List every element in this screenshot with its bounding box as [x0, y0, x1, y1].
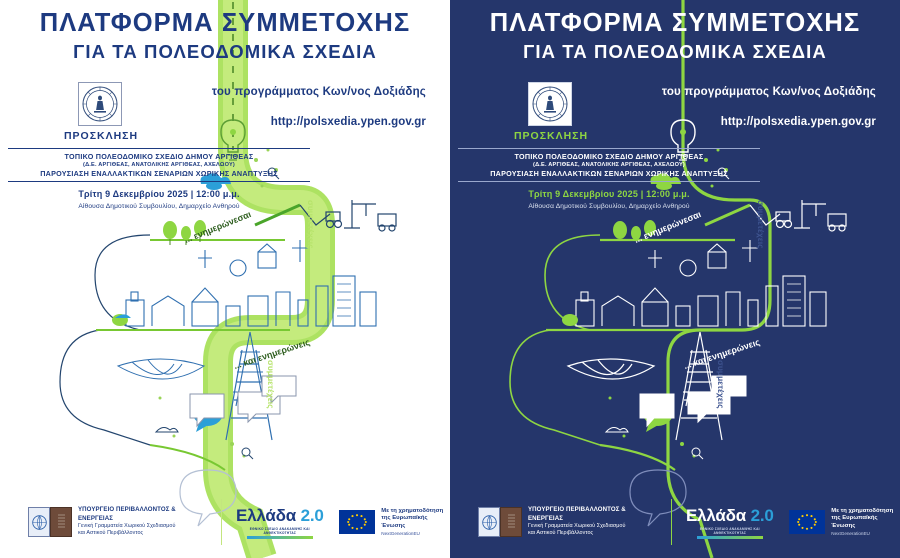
eu-nextgen-label: NextGenerationEU [381, 531, 450, 537]
poster-dark-variant: ΠΛΑΤΦΟΡΜΑ ΣΥΜΜΕΤΟΧΗΣ ΓΙΑ ΤΑ ΠΟΛΕΟΔΟΜΙΚΑ … [450, 0, 900, 558]
greece20-subtitle-dark: ΕΘΝΙΚΟ ΣΧΕΔΙΟ ΑΝΑΚΑΜΨΗΣ ΚΑΙ ΑΝΘΕΚΤΙΚΟΤΗΤ… [684, 527, 775, 535]
ministry-secretariat-line2: και Αστικού Περιβάλλοντος [78, 530, 207, 537]
greece20-number: 2.0 [301, 506, 324, 525]
greece20-word-dark: Ελλάδα [686, 506, 746, 525]
footer-divider-dark [671, 499, 672, 545]
poster-pair: ΠΛΑΤΦΟΡΜΑ ΣΥΜΜΕΤΟΧΗΣ ΓΙΑ ΤΑ ΠΟΛΕΟΔΟΜΙΚΑ … [0, 0, 900, 558]
greece20-subtitle: ΕΘΝΙΚΟ ΣΧΕΔΙΟ ΑΝΑΚΑΜΨΗΣ ΚΑΙ ΑΝΘΕΚΤΙΚΟΤΗΤ… [234, 527, 325, 535]
path-label-decor-d: συμμετέχεις [266, 360, 276, 409]
event-info-block-light: ΤΟΠΙΚΟ ΠΟΛΕΟΔΟΜΙΚΟ ΣΧΕΔΙΟ ΔΗΜΟΥ ΑΡΓΙΘΕΑΣ… [8, 148, 310, 210]
poster-title-line1: ΠΛΑΤΦΟΡΜΑ ΣΥΜΜΕΤΟΧΗΣ [0, 10, 450, 37]
greece20-accent-bar-dark [697, 536, 763, 539]
ministry-logo-block-dark: ΥΠΟΥΡΓΕΙΟ ΠΕΡΙΒΑΛΛΟΝΤΟΣ & ΕΝΕΡΓΕΙΑΣ Γενι… [478, 506, 657, 537]
greece20-number-dark: 2.0 [751, 506, 774, 525]
info-line-2: (Δ.Ε. ΑΡΓΙΘΕΑΣ, ΑΝΑΤΟΛΙΚΗΣ ΑΡΓΙΘΕΑΣ, ΑΧΕ… [8, 161, 310, 169]
platform-url-link[interactable]: http://polsxedia.ypen.gov.gr [271, 116, 426, 128]
eu-funding-block: Με τη χρηματοδότηση της Ευρωπαϊκής Ένωση… [339, 508, 450, 537]
greece20-word: Ελλάδα [236, 506, 296, 525]
invitation-label: ΠΡΟΣΚΛΗΣΗ [46, 130, 156, 142]
event-datetime: Τρίτη 9 Δεκεμβρίου 2025 | 12:00 μ.μ. [8, 189, 310, 199]
path-label-decor-d-dark: συμμετέχεις [716, 360, 726, 409]
program-subtitle-dark: του προγράμματος Κων/νος Δοξιάδης [662, 86, 876, 98]
ministry-emblem-icon [28, 507, 72, 537]
program-subtitle: του προγράμματος Κων/νος Δοξιάδης [212, 86, 426, 98]
ministry-name-dark: ΥΠΟΥΡΓΕΙΟ ΠΕΡΙΒΑΛΛΟΝΤΟΣ & ΕΝΕΡΓΕΙΑΣ [528, 506, 657, 522]
eu-funding-line2-dark: της Ευρωπαϊκής Ένωσης [831, 515, 900, 530]
title-block-light: ΠΛΑΤΦΟΡΜΑ ΣΥΜΜΕΤΟΧΗΣ ΓΙΑ ΤΑ ΠΟΛΕΟΔΟΜΙΚΑ … [0, 10, 450, 63]
greece20-accent-bar [247, 536, 313, 539]
municipal-seal-icon-dark [528, 82, 572, 126]
illustration-light [0, 0, 450, 558]
event-venue-dark: Αίθουσα Δημοτικού Συμβουλίου, Δημαρχείο … [458, 203, 760, 210]
poster-title-line1-dark: ΠΛΑΤΦΟΡΜΑ ΣΥΜΜΕΤΟΧΗΣ [450, 10, 900, 37]
divider-bottom [8, 181, 310, 182]
municipal-seal-icon [78, 82, 122, 126]
greece20-logo-dark: Ελλάδα 2.0 ΕΘΝΙΚΟ ΣΧΕΔΙΟ ΑΝΑΚΑΜΨΗΣ ΚΑΙ Α… [684, 506, 775, 539]
platform-url-link-dark[interactable]: http://polsxedia.ypen.gov.gr [721, 116, 876, 128]
info-line-2-dark: (Δ.Ε. ΑΡΓΙΘΕΑΣ, ΑΝΑΤΟΛΙΚΗΣ ΑΡΓΙΘΕΑΣ, ΑΧΕ… [458, 161, 760, 169]
ministry-name: ΥΠΟΥΡΓΕΙΟ ΠΕΡΙΒΑΛΛΟΝΤΟΣ & ΕΝΕΡΓΕΙΑΣ [78, 506, 207, 522]
eu-funding-line1: Με τη χρηματοδότηση [381, 508, 450, 516]
greece20-logo: Ελλάδα 2.0 ΕΘΝΙΚΟ ΣΧΕΔΙΟ ΑΝΑΚΑΜΨΗΣ ΚΑΙ Α… [234, 506, 325, 539]
poster-title-line2: ΓΙΑ ΤΑ ΠΟΛΕΟΔΟΜΙΚΑ ΣΧΕΔΙΑ [0, 41, 450, 63]
title-block-dark: ΠΛΑΤΦΟΡΜΑ ΣΥΜΜΕΤΟΧΗΣ ΓΙΑ ΤΑ ΠΟΛΕΟΔΟΜΙΚΑ … [450, 10, 900, 63]
footer-divider [221, 499, 222, 545]
footer-dark: ΥΠΟΥΡΓΕΙΟ ΠΕΡΙΒΑΛΛΟΝΤΟΣ & ΕΝΕΡΓΕΙΑΣ Γενι… [450, 496, 900, 548]
ministry-emblem-icon-dark [478, 507, 522, 537]
event-datetime-dark: Τρίτη 9 Δεκεμβρίου 2025 | 12:00 μ.μ. [458, 189, 760, 199]
invitation-label-dark: ΠΡΟΣΚΛΗΣΗ [496, 130, 606, 142]
info-line-3: ΠΑΡΟΥΣΙΑΣΗ ΕΝΑΛΛΑΚΤΙΚΩΝ ΣΕΝΑΡΙΩΝ ΧΩΡΙΚΗΣ… [8, 169, 310, 181]
ministry-secretariat-line2-dark: και Αστικού Περιβάλλοντος [528, 530, 657, 537]
info-line-3-dark: ΠΑΡΟΥΣΙΑΣΗ ΕΝΑΛΛΑΚΤΙΚΩΝ ΣΕΝΑΡΙΩΝ ΧΩΡΙΚΗΣ… [458, 169, 760, 181]
poster-light-variant: ΠΛΑΤΦΟΡΜΑ ΣΥΜΜΕΤΟΧΗΣ ΓΙΑ ΤΑ ΠΟΛΕΟΔΟΜΙΚΑ … [0, 0, 450, 558]
eu-funding-line1-dark: Με τη χρηματοδότηση [831, 508, 900, 516]
divider-bottom-dark [458, 181, 760, 182]
poster-title-line2-dark: ΓΙΑ ΤΑ ΠΟΛΕΟΔΟΜΙΚΑ ΣΧΕΔΙΑ [450, 41, 900, 63]
eu-nextgen-label-dark: NextGenerationEU [831, 531, 900, 537]
event-venue: Αίθουσα Δημοτικού Συμβουλίου, Δημαρχείο … [8, 203, 310, 210]
illustration-dark [450, 0, 900, 558]
eu-flag-icon-dark [789, 510, 825, 534]
info-line-1-dark: ΤΟΠΙΚΟ ΠΟΛΕΟΔΟΜΙΚΟ ΣΧΕΔΙΟ ΔΗΜΟΥ ΑΡΓΙΘΕΑΣ [458, 149, 760, 161]
eu-flag-icon [339, 510, 375, 534]
footer-light: ΥΠΟΥΡΓΕΙΟ ΠΕΡΙΒΑΛΛΟΝΤΟΣ & ΕΝΕΡΓΕΙΑΣ Γενι… [0, 496, 450, 548]
event-info-block-dark: ΤΟΠΙΚΟ ΠΟΛΕΟΔΟΜΙΚΟ ΣΧΕΔΙΟ ΔΗΜΟΥ ΑΡΓΙΘΕΑΣ… [458, 148, 760, 210]
eu-funding-line2: της Ευρωπαϊκής Ένωσης [381, 515, 450, 530]
info-line-1: ΤΟΠΙΚΟ ΠΟΛΕΟΔΟΜΙΚΟ ΣΧΕΔΙΟ ΔΗΜΟΥ ΑΡΓΙΘΕΑΣ [8, 149, 310, 161]
ministry-logo-block: ΥΠΟΥΡΓΕΙΟ ΠΕΡΙΒΑΛΛΟΝΤΟΣ & ΕΝΕΡΓΕΙΑΣ Γενι… [28, 506, 207, 537]
eu-funding-block-dark: Με τη χρηματοδότηση της Ευρωπαϊκής Ένωση… [789, 508, 900, 537]
